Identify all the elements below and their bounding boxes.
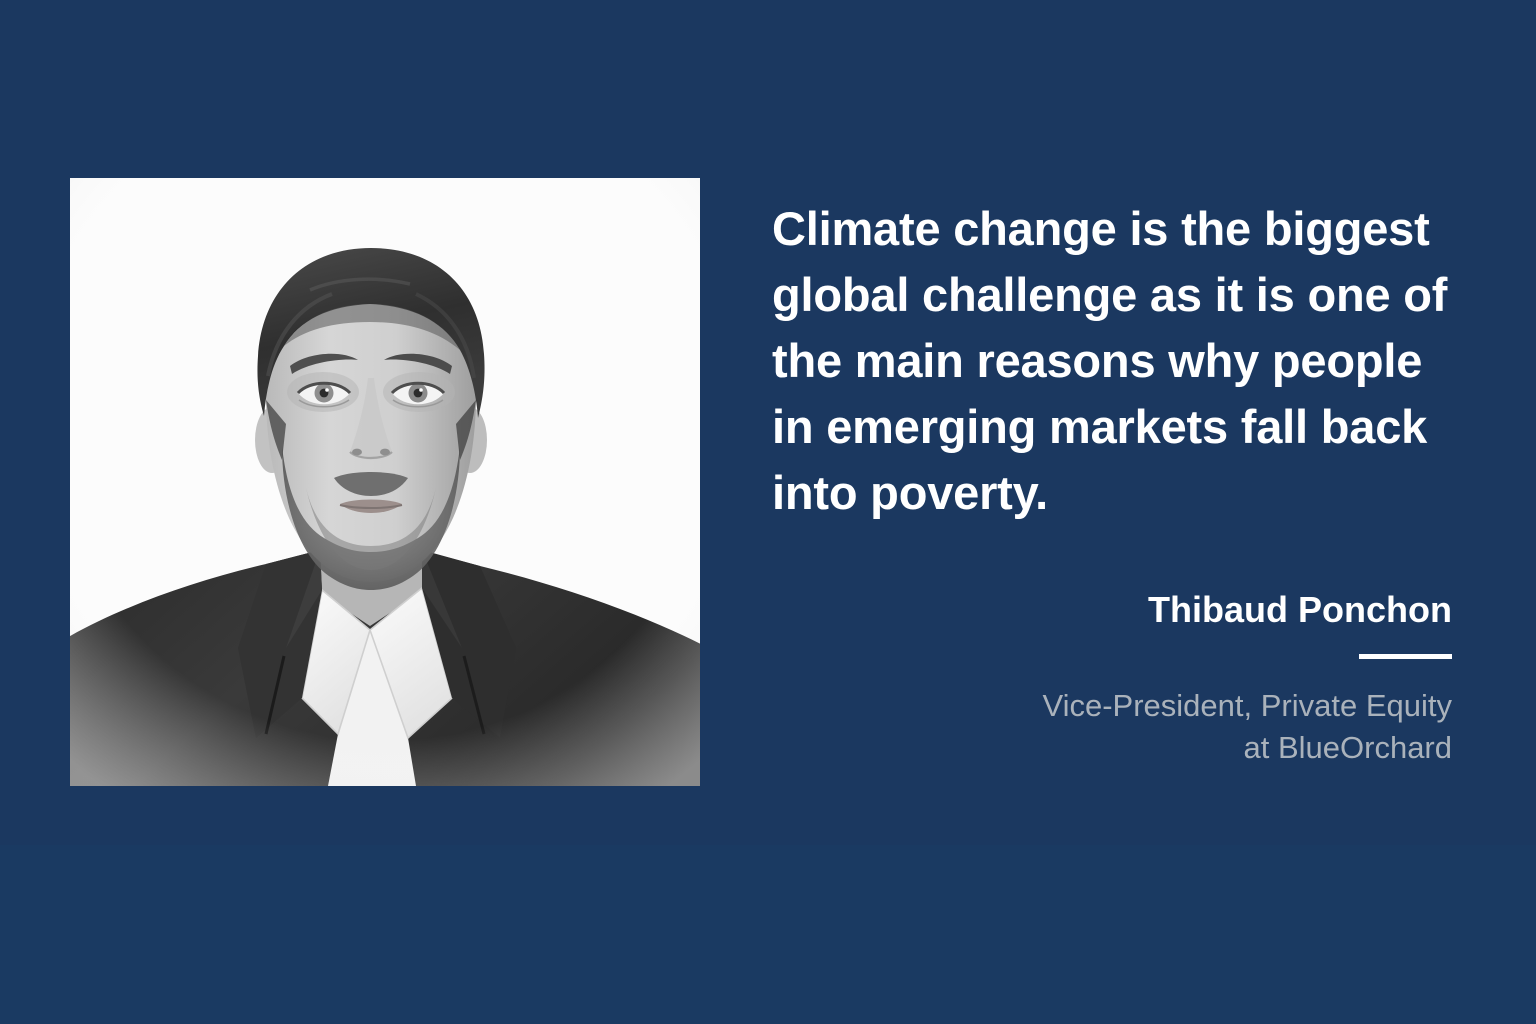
- speaker-name: Thibaud Ponchon: [832, 588, 1452, 632]
- quote-line-3: the main reasons why people: [772, 328, 1462, 394]
- portrait-frame: [70, 178, 700, 786]
- portrait-photo: [70, 178, 700, 786]
- quote-text: Climate change is the biggest global cha…: [772, 196, 1462, 526]
- quote-line-2: global challenge as it is one of: [772, 262, 1462, 328]
- background-band: [0, 845, 1536, 1024]
- quote-slide: Climate change is the biggest global cha…: [0, 0, 1536, 1024]
- quote-line-1: Climate change is the biggest: [772, 196, 1462, 262]
- quote-line-5: into poverty.: [772, 460, 1462, 526]
- quote-line-4: in emerging markets fall back: [772, 394, 1462, 460]
- speaker-role: Vice-President, Private Equity at BlueOr…: [832, 685, 1452, 769]
- portrait-illustration: [70, 178, 700, 786]
- attribution-block: Thibaud Ponchon Vice-President, Private …: [832, 588, 1452, 769]
- speaker-role-line-1: Vice-President, Private Equity: [832, 685, 1452, 727]
- speaker-role-line-2: at BlueOrchard: [832, 727, 1452, 769]
- divider-rule: [1359, 654, 1452, 659]
